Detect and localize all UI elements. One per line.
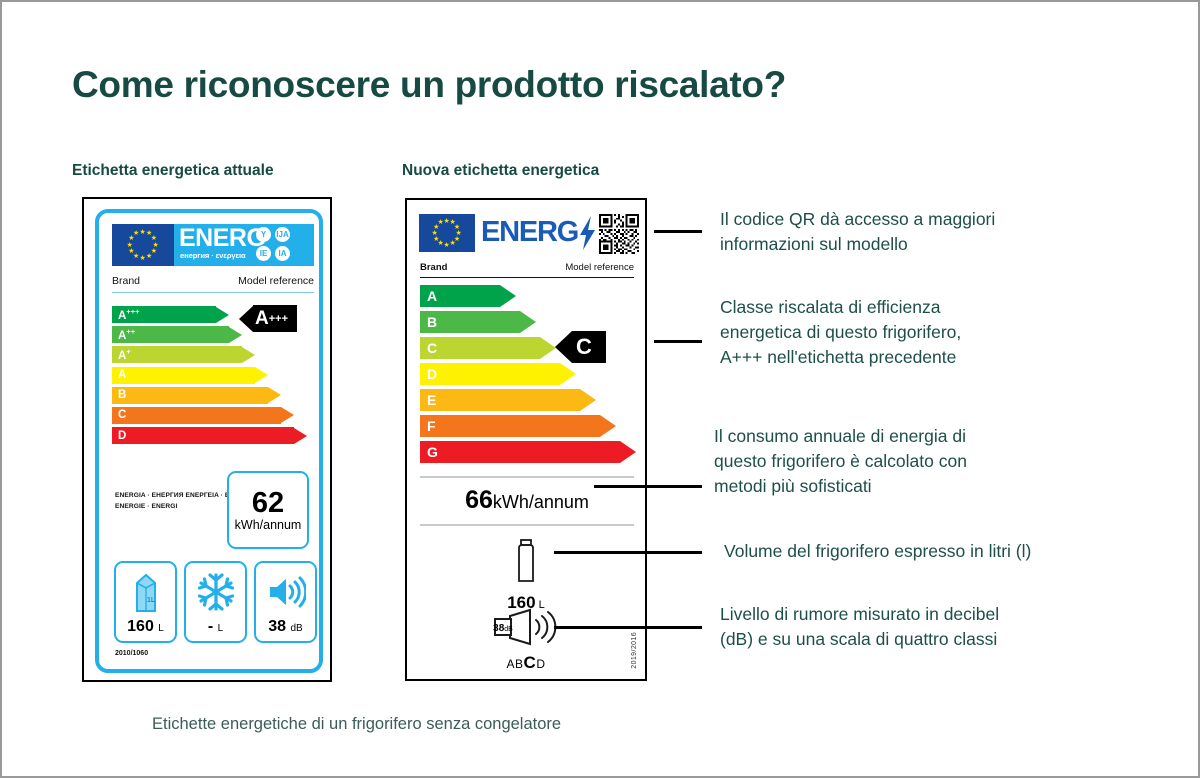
- eu-star-icon: ★: [433, 236, 439, 243]
- column-heading-old-label: Etichetta energetica attuale: [72, 162, 274, 180]
- new-model-text: Model reference: [565, 262, 634, 273]
- new-noise-class-scale: ABCD: [507, 653, 546, 673]
- energy-class-arrow-icon: [620, 441, 636, 463]
- old-rating-value: A+++: [253, 305, 297, 332]
- noise-class-active: C: [524, 653, 537, 672]
- eu-flag-icon: ★★★★★★★★★★★★: [112, 224, 174, 266]
- old-lang-circle-ija: IJA: [275, 227, 290, 242]
- old-metric-freezer: - L: [184, 561, 247, 643]
- energy-class-arrow-icon: [500, 285, 516, 307]
- energy-class-label: A: [112, 369, 126, 381]
- energy-class-bar: B: [420, 311, 636, 333]
- carton-icon: 1L: [116, 570, 175, 614]
- old-consumption-unit: kWh/annum: [235, 518, 302, 532]
- energy-class-label: F: [420, 418, 436, 434]
- new-regulation-number: 2019/2016: [631, 632, 638, 669]
- figure-caption: Etichette energetiche di un frigorifero …: [152, 715, 561, 734]
- new-label-header: ★★★★★★★★★★★★ ENERG: [419, 212, 635, 256]
- old-metric-volume: 1L 160 L: [114, 561, 177, 643]
- annotation-qr: Il codice QR dà accesso a maggiori infor…: [720, 207, 995, 257]
- annotation-noise: Livello di rumore misurato in decibel (d…: [720, 602, 999, 652]
- leader-line-energy: [594, 485, 702, 488]
- new-volume-block: 160 L: [407, 538, 645, 613]
- energy-class-label: D: [112, 430, 126, 442]
- energy-class-bar: D: [420, 363, 636, 385]
- energy-class-arrow-icon: [255, 367, 268, 383]
- energy-class-label: A+: [112, 347, 131, 362]
- eu-star-icon: ★: [140, 255, 146, 262]
- noise-class: D: [536, 657, 545, 671]
- eu-star-icon: ★: [128, 248, 134, 255]
- old-label-header: ★★★★★★★★★★★★ ENERG енергия · ενεργεια Y …: [112, 224, 314, 266]
- eu-star-icon: ★: [450, 240, 456, 247]
- leader-line-class: [654, 340, 702, 343]
- new-divider-top: [420, 476, 634, 478]
- eu-star-icon: ★: [127, 242, 133, 249]
- old-consumption-value: 62: [252, 489, 284, 517]
- energy-class-bar: F: [420, 415, 636, 437]
- energy-class-arrow-icon: [242, 347, 255, 363]
- new-rating-badge: C: [555, 331, 606, 363]
- energy-class-label: A+++: [112, 307, 139, 322]
- eu-star-icon: ★: [432, 230, 438, 237]
- old-noise-value: 38 dB: [256, 618, 315, 636]
- energy-class-label: B: [420, 314, 437, 330]
- old-label-inner-frame: ★★★★★★★★★★★★ ENERG енергия · ενεργεια Y …: [95, 209, 323, 673]
- old-rating-badge: A+++: [239, 305, 297, 332]
- energy-class-arrow-icon: [268, 387, 281, 403]
- new-label-brand-row: Brand Model reference: [420, 262, 634, 273]
- energy-class-label: E: [420, 392, 436, 408]
- energy-class-bar: C: [112, 407, 307, 424]
- snowflake-icon: [186, 570, 245, 614]
- old-regulation-number: 2010/1060: [115, 650, 148, 657]
- old-energy-label: ★★★★★★★★★★★★ ENERG енергия · ενεργεια Y …: [82, 197, 332, 682]
- fridge-volume-icon: [513, 538, 539, 589]
- new-energ-wordmark: ENERG: [481, 215, 578, 249]
- infographic-page: Come riconoscere un prodotto riscalato? …: [0, 0, 1200, 778]
- annotation-energy: Il consumo annuale di energia di questo …: [714, 424, 967, 499]
- old-model-text: Model reference: [238, 275, 314, 287]
- leader-line-volume: [554, 551, 702, 554]
- energy-class-label: A++: [112, 327, 135, 342]
- new-brand-divider: [420, 277, 634, 278]
- eu-star-icon: ★: [133, 230, 139, 237]
- old-lang-circle-ia: IA: [275, 246, 290, 261]
- new-consumption-row: 66kWh/annum: [420, 486, 634, 515]
- old-lang-circle-y: Y: [256, 227, 271, 242]
- noise-class: A: [507, 657, 516, 671]
- energy-class-arrow-icon: [540, 337, 556, 359]
- new-consumption-value: 66: [465, 486, 493, 514]
- new-rating-value: C: [572, 331, 606, 363]
- new-class-scale: ABCDEFG: [420, 285, 636, 467]
- energy-class-bar: E: [420, 389, 636, 411]
- qr-code-icon: [599, 214, 639, 254]
- energy-class-bar: A+: [112, 346, 307, 363]
- page-title: Come riconoscere un prodotto riscalato?: [72, 64, 786, 106]
- energy-class-bar: A: [420, 285, 636, 307]
- old-freezer-value: - L: [186, 618, 245, 636]
- old-brand-text: Brand: [112, 275, 140, 287]
- energy-class-arrow-icon: [294, 428, 307, 444]
- energy-class-label: C: [420, 340, 437, 356]
- eu-star-icon: ★: [140, 229, 146, 236]
- energy-class-bar: A: [112, 367, 307, 384]
- new-consumption-unit: kWh/annum: [493, 492, 589, 512]
- energy-class-label: A: [420, 288, 437, 304]
- annotation-volume: Volume del frigorifero espresso in litri…: [724, 539, 1031, 564]
- old-energ-subtitle: енергия · ενεργεια: [180, 251, 246, 260]
- column-heading-new-label: Nuova etichetta energetica: [402, 162, 599, 180]
- leader-line-noise: [554, 626, 702, 629]
- old-metric-noise: 38 dB: [254, 561, 317, 643]
- old-rating-arrow-icon: [239, 306, 253, 332]
- eu-star-icon: ★: [438, 219, 444, 226]
- energy-class-label: D: [420, 366, 437, 382]
- old-label-wordmark-block: ENERG енергия · ενεργεια Y IJA IE IA: [174, 224, 314, 266]
- energy-class-label: B: [112, 389, 126, 401]
- old-consumption-box: 62 kWh/annum: [227, 471, 309, 549]
- energy-class-bar: D: [112, 427, 307, 444]
- energy-class-arrow-icon: [281, 407, 294, 423]
- speaker-icon: [256, 570, 315, 614]
- energy-class-arrow-icon: [600, 415, 616, 437]
- eu-star-icon: ★: [444, 242, 450, 249]
- energy-class-bar: G: [420, 441, 636, 463]
- old-lang-circle-ie: IE: [256, 246, 271, 261]
- new-rating-arrow-icon: [555, 331, 572, 363]
- lightning-bolt-icon: [578, 216, 596, 250]
- energy-class-arrow-icon: [580, 389, 596, 411]
- speaker-noise-icon: 38dB: [488, 608, 564, 651]
- noise-class: B: [515, 657, 524, 671]
- old-volume-value: 160 L: [116, 618, 175, 636]
- energy-class-label: G: [420, 444, 438, 460]
- new-divider-bottom: [420, 524, 634, 526]
- leader-line-qr: [654, 230, 702, 233]
- annotation-class: Classe riscalata di efficienza energetic…: [720, 295, 961, 370]
- energy-class-bar: B: [112, 387, 307, 404]
- new-noise-block: 38dB ABCD: [407, 608, 645, 673]
- old-energ-wordmark: ENERG: [179, 226, 265, 251]
- new-brand-text: Brand: [420, 262, 447, 273]
- energy-class-label: C: [112, 409, 126, 421]
- eu-star-icon: ★: [146, 253, 152, 260]
- eu-flag-icon: ★★★★★★★★★★★★: [419, 214, 475, 252]
- energy-class-arrow-icon: [560, 363, 576, 385]
- old-brand-divider: [112, 292, 314, 293]
- energy-class-arrow-icon: [216, 307, 229, 323]
- old-label-brand-row: Brand Model reference: [112, 275, 314, 287]
- energy-class-arrow-icon: [520, 311, 536, 333]
- svg-text:1L: 1L: [147, 597, 156, 604]
- new-energy-label: ★★★★★★★★★★★★ ENERG: [405, 198, 647, 681]
